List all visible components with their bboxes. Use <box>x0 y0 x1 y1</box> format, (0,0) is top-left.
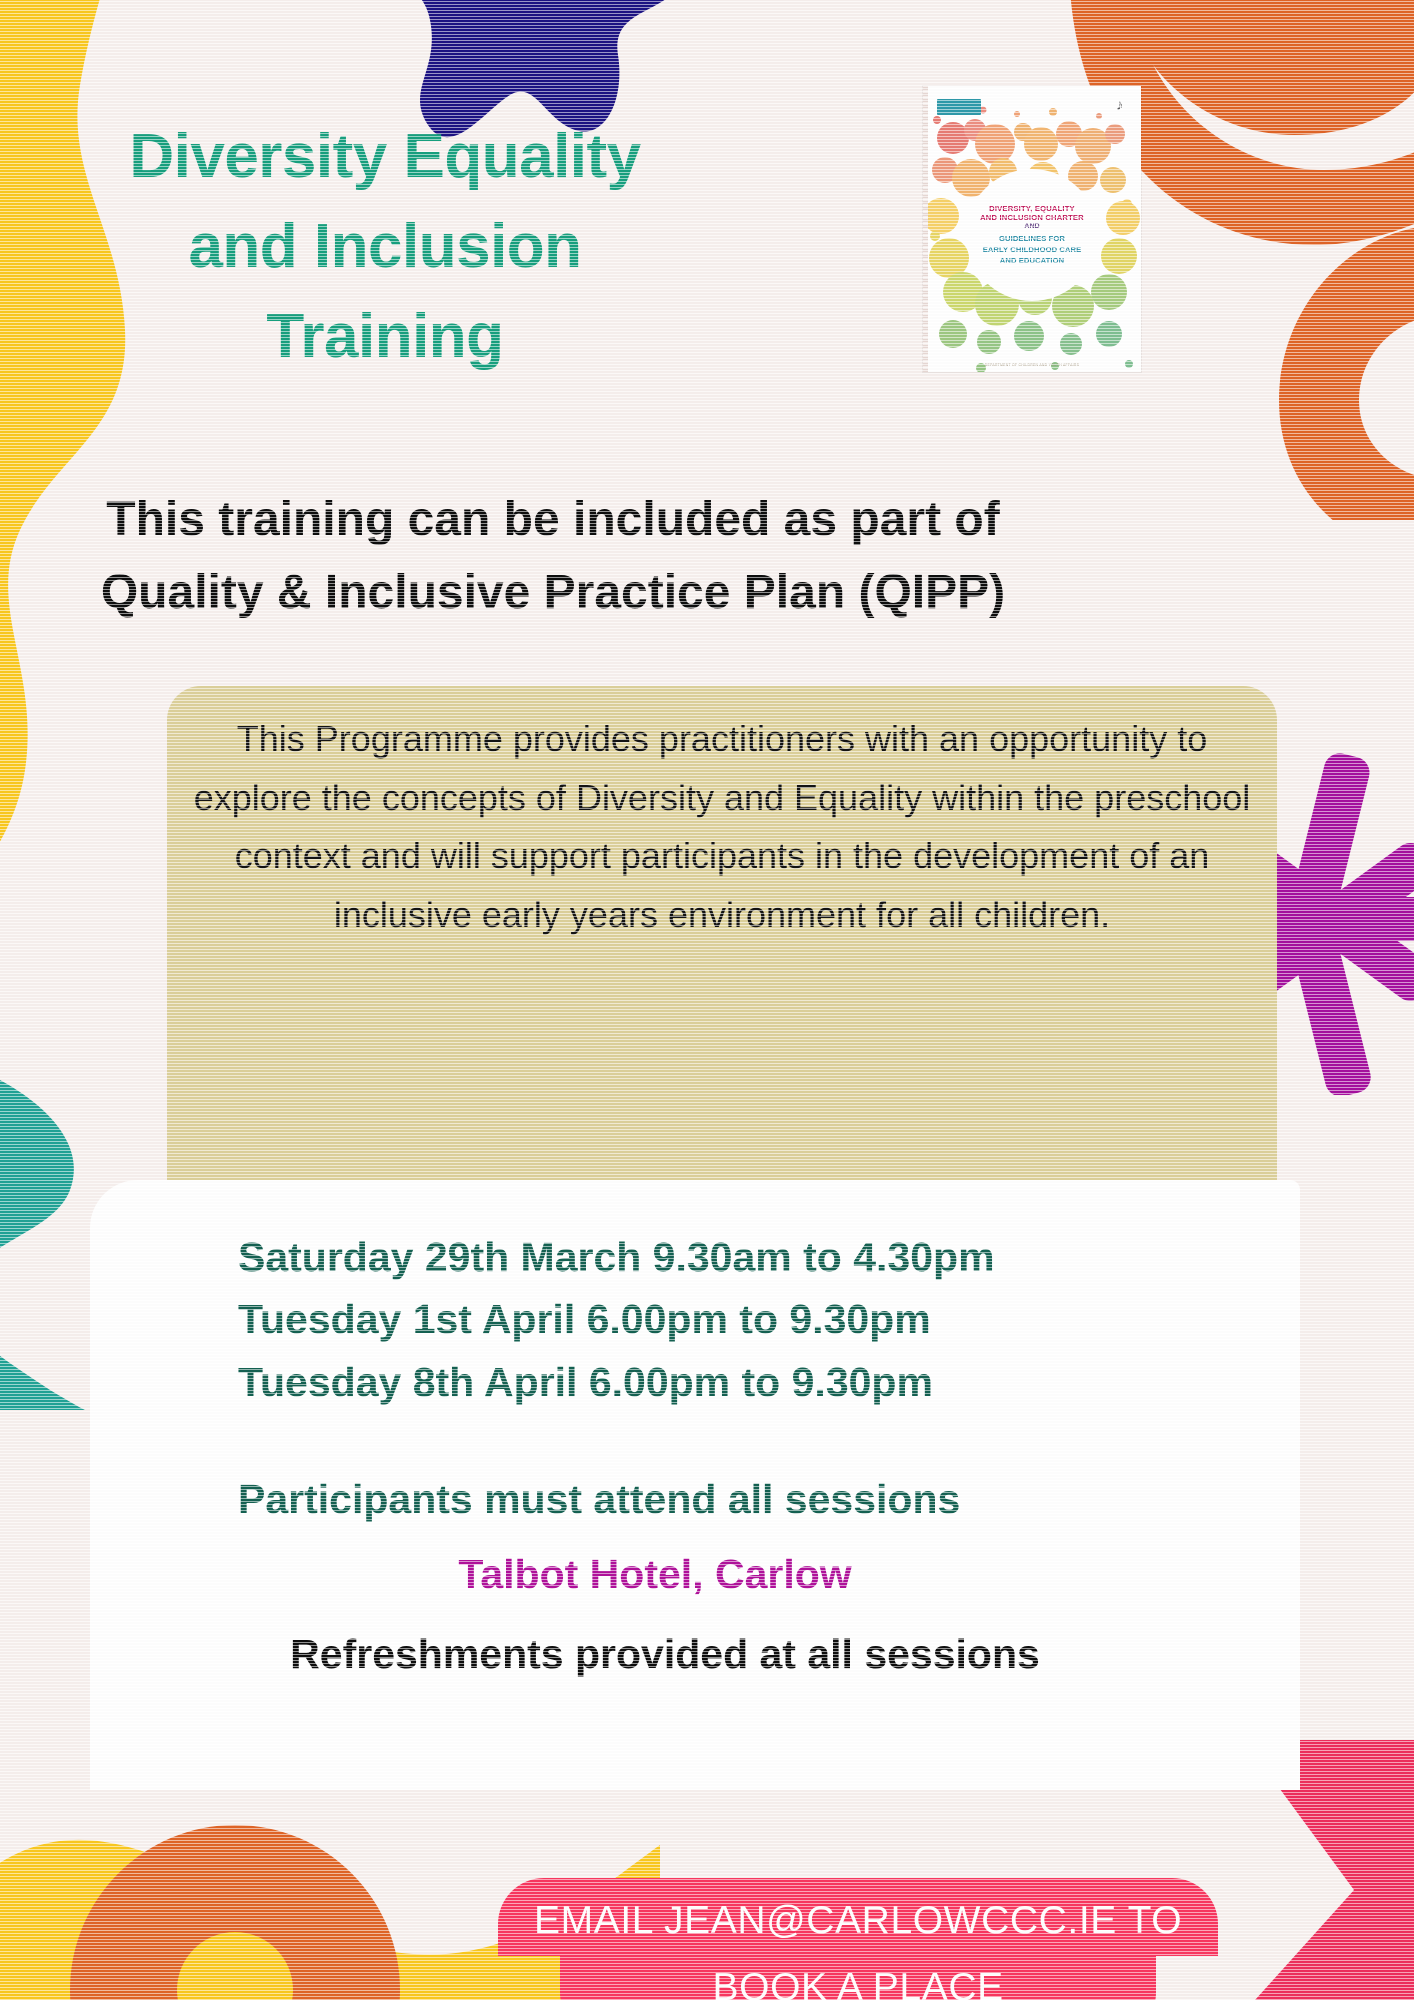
subtitle-line-1: This training can be included as part of <box>48 484 1058 557</box>
poster-canvas: Diversity Equality and Inclusion Trainin… <box>0 0 1414 2000</box>
booklet-sub-line-2: EARLY CHILDHOOD CARE <box>983 245 1082 254</box>
subtitle-block: This training can be included as part of… <box>48 484 1058 630</box>
subtitle-line-2: Quality & Inclusive Practice Plan (QIPP) <box>48 557 1058 630</box>
cta-line-2[interactable]: BOOK A PLACE <box>560 1956 1156 2000</box>
orange-donut-shape-bottom <box>70 1800 400 2000</box>
session-date-3: Tuesday 8th April 6.00pm to 9.30pm <box>160 1351 1230 1413</box>
title-line-1: Diversity Equality <box>40 112 730 202</box>
booking-cta-badge[interactable]: EMAIL JEAN@CARLOWCCC.IE TO BOOK A PLACE <box>498 1878 1218 2000</box>
session-date-2: Tuesday 1st April 6.00pm to 9.30pm <box>160 1288 1230 1350</box>
session-date-1: Saturday 29th March 9.30am to 4.30pm <box>160 1226 1230 1288</box>
booklet-cover-text: DIVERSITY, EQUALITY AND INCLUSION CHARTE… <box>966 169 1098 301</box>
title-line-2: and Inclusion <box>40 202 730 292</box>
description-panel-body <box>167 944 1277 1180</box>
attendance-note: Participants must attend all sessions <box>160 1469 1230 1531</box>
refreshments-note: Refreshments provided at all sessions <box>160 1624 1230 1686</box>
booklet-spine <box>923 86 928 372</box>
cta-line-1[interactable]: EMAIL JEAN@CARLOWCCC.IE TO <box>498 1878 1218 1956</box>
booklet-and: AND <box>1024 223 1039 232</box>
charter-booklet-cover-image: ♪ DIVERSITY, EQUALITY AND INCLUSION CHAR… <box>923 86 1141 372</box>
harp-emblem-icon: ♪ <box>1116 98 1130 116</box>
sessions-card-content: Saturday 29th March 9.30am to 4.30pm Tue… <box>90 1180 1300 1790</box>
booklet-footer-text: DEPARTMENT OF CHILDREN AND YOUTH AFFAIRS <box>923 363 1141 367</box>
booklet-sub-line-3: AND EDUCATION <box>1000 256 1064 265</box>
booklet-title-line-1: DIVERSITY, EQUALITY <box>989 204 1075 213</box>
description-text: This Programme provides practitioners wi… <box>167 710 1277 945</box>
venue-text: Talbot Hotel, Carlow <box>160 1544 1230 1606</box>
dcya-logo-icon <box>937 99 981 115</box>
title-line-3: Training <box>40 292 730 382</box>
booklet-title-line-2: AND INCLUSION CHARTER <box>980 213 1084 222</box>
page-title: Diversity Equality and Inclusion Trainin… <box>40 112 730 382</box>
booklet-sub-line-1: GUIDELINES FOR <box>999 234 1065 243</box>
